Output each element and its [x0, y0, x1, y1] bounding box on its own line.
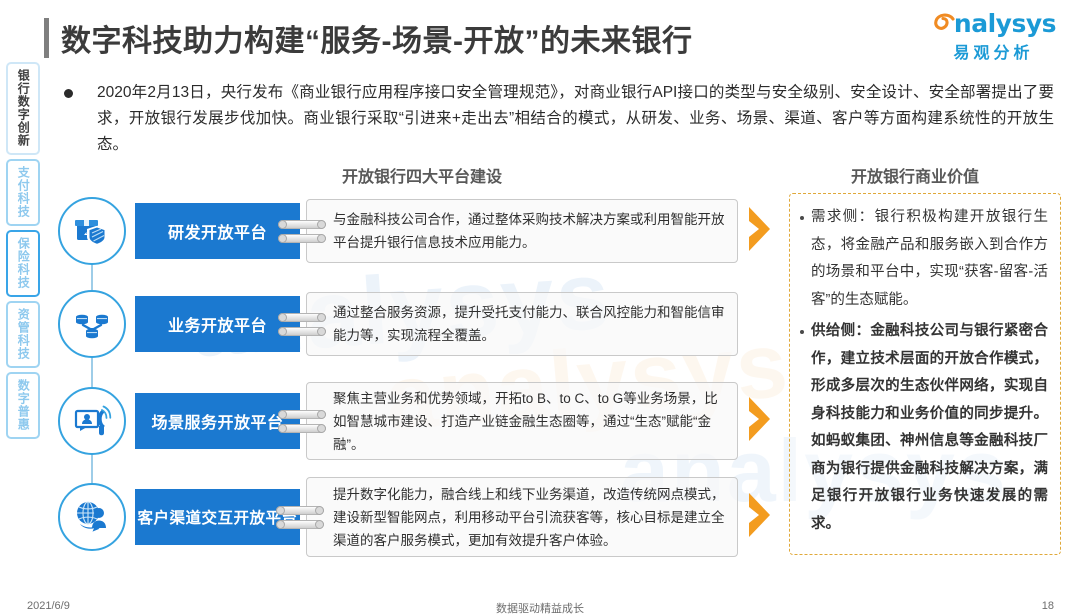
sidebar-tabs: 银行数字创新 支付科技 保险科技 资管科技 数字普惠: [6, 62, 42, 443]
value-item-text: 需求侧：银行积极构建开放银行生态，将金融产品和服务嵌入到合作方的场景和平台中，实…: [811, 204, 1048, 314]
platform-row: 客户渠道交互开放平台 提升数字化能力，融合线上和线下业务渠道，改造传统网点模式，…: [58, 477, 780, 557]
business-value-panel: 需求侧：银行积极构建开放银行生态，将金融产品和服务嵌入到合作方的场景和平台中，实…: [789, 193, 1061, 555]
value-item-text: 供给侧：金融科技公司与银行紧密合作，建立技术层面的开放合作模式，形成多层次的生态…: [811, 318, 1048, 538]
chevron-right-icon: [746, 490, 780, 545]
monitor-user-icon: [58, 387, 126, 455]
database-merge-icon: [58, 290, 126, 358]
sidebar-item-asset-management-tech[interactable]: 资管科技: [6, 301, 40, 368]
value-list-item: 供给侧：金融科技公司与银行紧密合作，建立技术层面的开放合作模式，形成多层次的生态…: [800, 318, 1048, 538]
platform-label[interactable]: 客户渠道交互开放平台: [135, 489, 300, 545]
globe-user-icon: [58, 483, 126, 551]
sidebar-item-bank-digital-innovation[interactable]: 银行数字创新: [6, 62, 40, 155]
chevron-right-icon: [746, 204, 780, 259]
package-shield-icon: [58, 197, 126, 265]
platform-label[interactable]: 场景服务开放平台: [135, 393, 300, 449]
sidebar-item-payment-tech[interactable]: 支付科技: [6, 159, 40, 226]
sidebar-item-digital-inclusive-finance[interactable]: 数字普惠: [6, 372, 40, 439]
value-list-item: 需求侧：银行积极构建开放银行生态，将金融产品和服务嵌入到合作方的场景和平台中，实…: [800, 204, 1048, 314]
sidebar-item-label: 数字普惠: [16, 379, 31, 431]
platform-description: 聚焦主营业务和优势领域，开拓to B、to C、to G等业务场景，比如智慧城市…: [306, 382, 738, 460]
sidebar-item-label: 保险科技: [16, 237, 31, 289]
timeline-connector-line: [91, 250, 93, 505]
sidebar-item-insurance-tech[interactable]: 保险科技: [6, 230, 40, 297]
platform-label[interactable]: 研发开放平台: [135, 203, 300, 259]
logo-wordmark: nalysys: [954, 11, 1056, 37]
logo-wordmark-row: nalysys: [931, 10, 1056, 38]
platform-row: 场景服务开放平台 聚焦主营业务和优势领域，开拓to B、to C、to G等业务…: [58, 382, 780, 460]
platform-label[interactable]: 业务开放平台: [135, 296, 300, 352]
title-accent-bar: [44, 18, 49, 58]
sidebar-item-label: 资管科技: [16, 308, 31, 360]
logo-chinese-name: 易观分析: [931, 39, 1056, 63]
intro-paragraph: 2020年2月13日，央行发布《商业银行应用程序接口安全管理规范》，对商业银行A…: [64, 80, 1054, 158]
platform-description: 通过整合服务资源，提升受托支付能力、联合风控能力和智能信审能力等，实现流程全覆盖…: [306, 292, 738, 356]
page-title: 数字科技助力构建“服务-场景-开放”的未来银行: [61, 16, 692, 60]
sidebar-item-label: 银行数字创新: [16, 69, 31, 147]
platform-row: 业务开放平台 通过整合服务资源，提升受托支付能力、联合风控能力和智能信审能力等，…: [58, 290, 738, 358]
bullet-dot-icon: [800, 330, 804, 334]
logo-swirl-icon: [931, 11, 957, 37]
platform-description: 与金融科技公司合作，通过整体采购技术解决方案或利用智能开放平台提升银行信息技术应…: [306, 199, 738, 263]
bullet-dot-icon: [64, 89, 73, 98]
sidebar-item-label: 支付科技: [16, 166, 31, 218]
brand-logo: nalysys 易观分析: [931, 10, 1056, 63]
right-column-heading: 开放银行商业价值: [851, 163, 979, 187]
footer-slogan: 数据驱动精益成长: [0, 600, 1080, 616]
intro-text: 2020年2月13日，央行发布《商业银行应用程序接口安全管理规范》，对商业银行A…: [97, 80, 1054, 158]
page-header: 数字科技助力构建“服务-场景-开放”的未来银行: [44, 16, 692, 60]
chevron-right-icon: [746, 394, 780, 449]
left-column-heading: 开放银行四大平台建设: [342, 163, 502, 187]
footer-page-number: 18: [1042, 600, 1054, 612]
platform-description: 提升数字化能力，融合线上和线下业务渠道，改造传统网点模式，建设新型智能网点，利用…: [306, 477, 738, 557]
bullet-dot-icon: [800, 216, 804, 220]
platform-row: 研发开放平台 与金融科技公司合作，通过整体采购技术解决方案或利用智能开放平台提升…: [58, 197, 780, 265]
